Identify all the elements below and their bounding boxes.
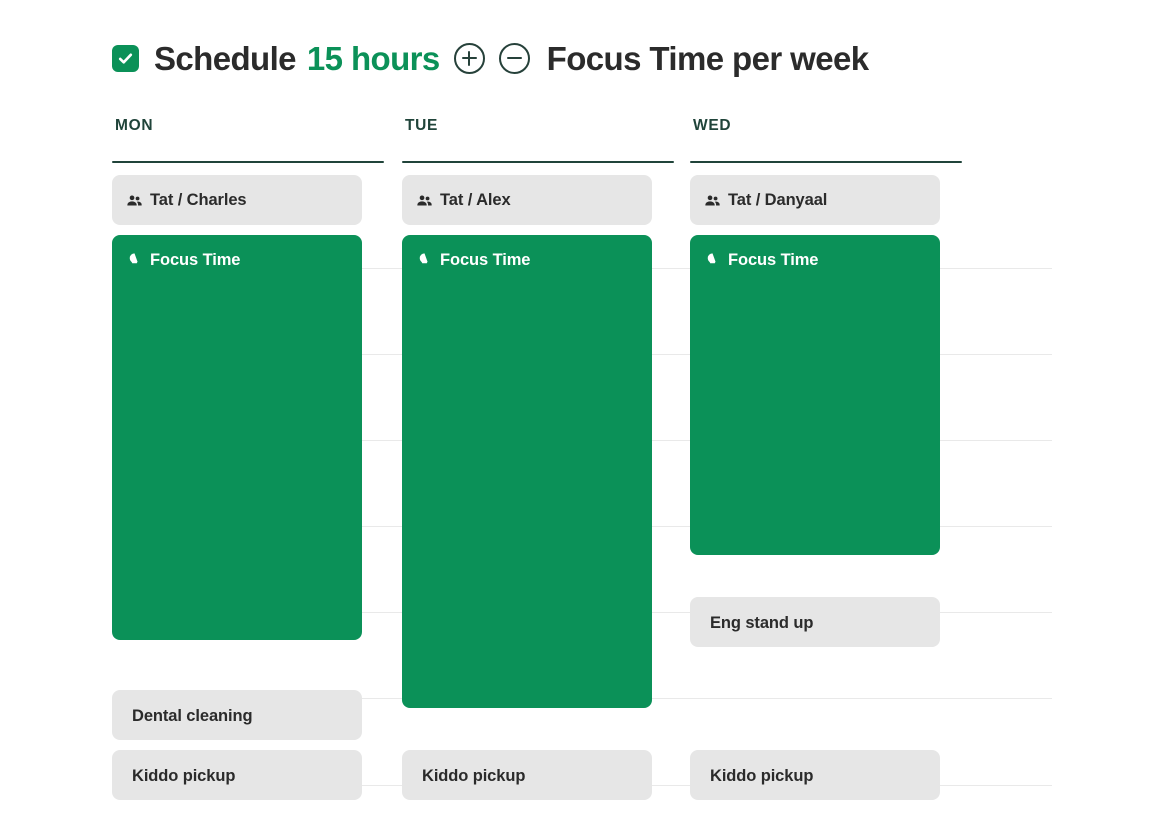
lightbulb-icon	[704, 252, 721, 269]
schedule-enabled-checkbox[interactable]	[112, 45, 139, 72]
lightbulb-icon-wrap	[704, 252, 721, 269]
plus-circle-icon	[462, 51, 477, 66]
event-title: Kiddo pickup	[710, 768, 813, 785]
day-events: Tat / DanyaalFocus TimeEng stand upKiddo…	[690, 175, 962, 825]
day-label-wed: WED	[690, 118, 962, 134]
people-icon	[126, 192, 143, 209]
event-chip[interactable]: Tat / Alex	[402, 175, 652, 225]
people-icon-wrap	[126, 192, 143, 209]
day-label-mon: MON	[112, 118, 384, 134]
schedule-header: Schedule 15 hours Focus Time per week	[112, 30, 868, 86]
day-header-rule	[402, 161, 674, 163]
event-chip[interactable]: Kiddo pickup	[402, 750, 652, 800]
lightbulb-icon	[416, 252, 433, 269]
event-chip[interactable]: Focus Time	[402, 235, 652, 708]
lightbulb-icon	[126, 252, 143, 269]
event-chip[interactable]: Focus Time	[690, 235, 940, 555]
day-column-wed: WEDTat / DanyaalFocus TimeEng stand upKi…	[690, 118, 962, 825]
event-chip[interactable]: Eng stand up	[690, 597, 940, 647]
day-events: Tat / CharlesFocus TimeDental cleaningKi…	[112, 175, 384, 825]
event-title: Focus Time	[728, 252, 818, 269]
event-title: Kiddo pickup	[132, 768, 235, 785]
lightbulb-icon-wrap	[416, 252, 433, 269]
day-events: Tat / AlexFocus TimeKiddo pickup	[402, 175, 674, 825]
day-column-mon: MONTat / CharlesFocus TimeDental cleanin…	[112, 118, 384, 825]
week-calendar: MONTat / CharlesFocus TimeDental cleanin…	[112, 118, 1052, 818]
lightbulb-icon-wrap	[126, 252, 143, 269]
schedule-title-suffix: Focus Time per week	[547, 42, 869, 75]
event-title: Tat / Danyaal	[728, 192, 827, 209]
event-chip[interactable]: Kiddo pickup	[690, 750, 940, 800]
check-icon	[117, 50, 134, 67]
people-icon	[704, 192, 721, 209]
decrease-hours-button[interactable]	[499, 43, 530, 74]
event-title: Eng stand up	[710, 615, 813, 632]
focus-time-scheduler: Schedule 15 hours Focus Time per week MO…	[0, 0, 1164, 832]
people-icon-wrap	[704, 192, 721, 209]
event-title: Dental cleaning	[132, 708, 252, 725]
event-title: Focus Time	[440, 252, 530, 269]
event-chip[interactable]: Kiddo pickup	[112, 750, 362, 800]
event-chip[interactable]: Tat / Danyaal	[690, 175, 940, 225]
day-header-rule	[112, 161, 384, 163]
people-icon	[416, 192, 433, 209]
event-chip[interactable]: Dental cleaning	[112, 690, 362, 740]
day-header-rule	[690, 161, 962, 163]
day-column-tue: TUETat / AlexFocus TimeKiddo pickup	[402, 118, 674, 825]
people-icon-wrap	[416, 192, 433, 209]
event-chip[interactable]: Tat / Charles	[112, 175, 362, 225]
event-title: Tat / Alex	[440, 192, 511, 209]
event-title: Focus Time	[150, 252, 240, 269]
event-title: Tat / Charles	[150, 192, 247, 209]
increase-hours-button[interactable]	[454, 43, 485, 74]
day-label-tue: TUE	[402, 118, 674, 134]
event-title: Kiddo pickup	[422, 768, 525, 785]
minus-circle-icon	[507, 51, 522, 66]
focus-hours-value[interactable]: 15 hours	[307, 42, 440, 75]
event-chip[interactable]: Focus Time	[112, 235, 362, 640]
schedule-title-prefix: Schedule	[154, 42, 296, 75]
